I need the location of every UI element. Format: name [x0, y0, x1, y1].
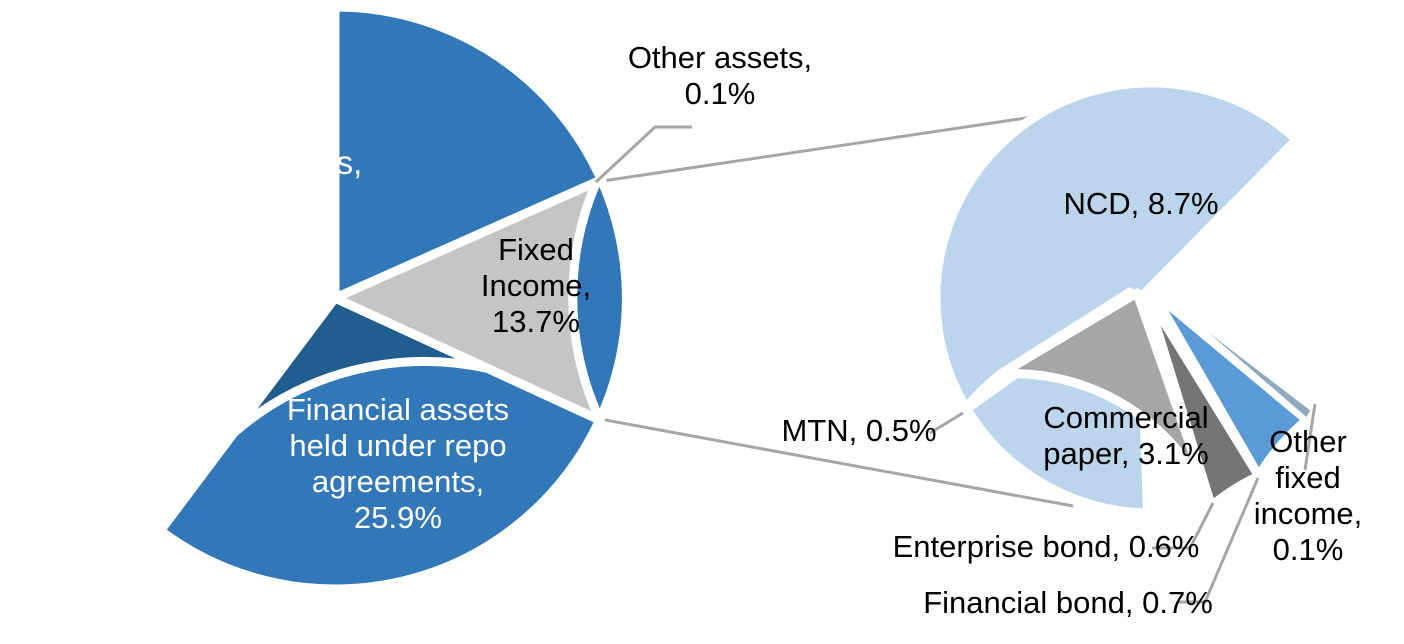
label-enterprise-bond: Enterprise bond, 0.6%: [872, 529, 1220, 565]
label-repo-agreements: Financial assets held under repo agreeme…: [262, 392, 534, 536]
label-fixed-income: Fixed Income, 13.7%: [466, 232, 606, 340]
label-other-assets: Other assets, 0.1%: [604, 40, 836, 112]
label-other-fixed-income: Other fixed income, 0.1%: [1246, 424, 1370, 568]
label-financial-bond: Financial bond, 0.7%: [900, 585, 1236, 621]
pie-of-pie-chart: Bank deposits, 60.3% Financial assets he…: [0, 0, 1404, 644]
label-ncd: NCD, 8.7%: [1048, 186, 1234, 222]
label-mtn: MTN, 0.5%: [766, 413, 952, 449]
label-bank-deposits: Bank deposits, 60.3%: [120, 144, 388, 221]
label-commercial-paper: Commercial paper, 3.1%: [1026, 400, 1226, 472]
